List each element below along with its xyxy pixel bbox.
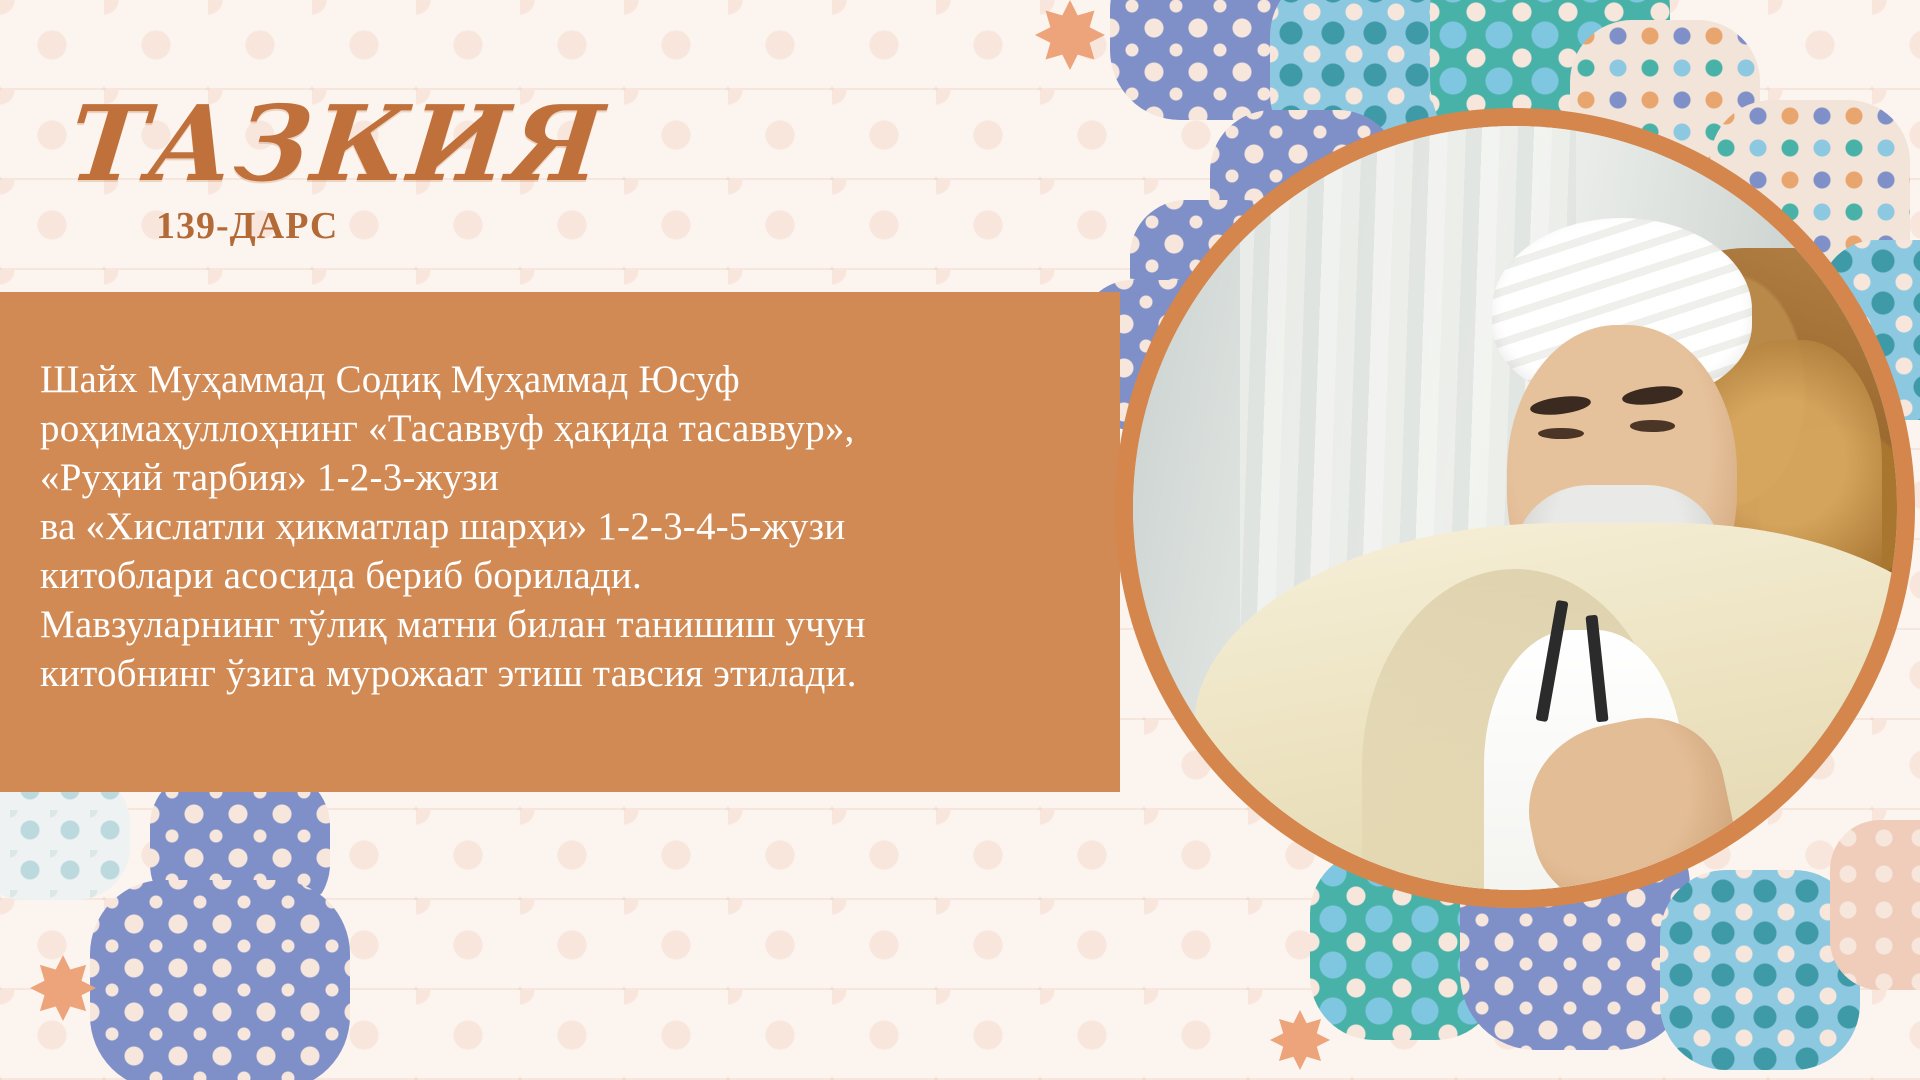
decor-tile-blue-6 [90, 880, 350, 1080]
description-text-block: Шайх Муҳаммад Содиқ Муҳаммад Юсуф роҳима… [40, 355, 1100, 698]
star-8-point-icon-bottom-center [1270, 1010, 1330, 1070]
photo-eye-left [1538, 428, 1584, 439]
description-line: роҳимаҳуллоҳнинг «Тасаввуф ҳақида тасавв… [40, 404, 1100, 453]
logo-block: ТАЗКИЯ 139-ДАРС [70, 92, 604, 248]
lesson-number-subtitle: 139-ДАРС [156, 204, 604, 248]
description-line: Мавзуларнинг тўлиқ матни билан танишиш у… [40, 600, 1100, 649]
portrait-ring: Шайх Муҳаммад Содиқ Муҳаммад Юсуф [1115, 108, 1915, 908]
description-line: китоблари асосида бериб борилади. [40, 551, 1100, 600]
page-title: ТАЗКИЯ [65, 92, 610, 196]
star-8-point-icon-top [1035, 0, 1105, 70]
description-line: «Руҳий тарбия» 1-2-3-жузи [40, 453, 1100, 502]
decor-cluster-bottom-left [0, 770, 390, 1080]
poster-canvas: ТАЗКИЯ 139-ДАРС Шайх Муҳаммад Содиқ Муҳа… [0, 0, 1920, 1080]
description-line: китобнинг ўзига мурожаат этиш тавсия эти… [40, 649, 1100, 698]
description-line: ва «Хислатли ҳикматлар шарҳи» 1-2-3-4-5-… [40, 502, 1100, 551]
photo-eye-right [1630, 420, 1676, 431]
portrait-photo: Шайх Муҳаммад Содиқ Муҳаммад Юсуф [1133, 126, 1897, 890]
description-line: Шайх Муҳаммад Содиқ Муҳаммад Юсуф [40, 355, 1100, 404]
